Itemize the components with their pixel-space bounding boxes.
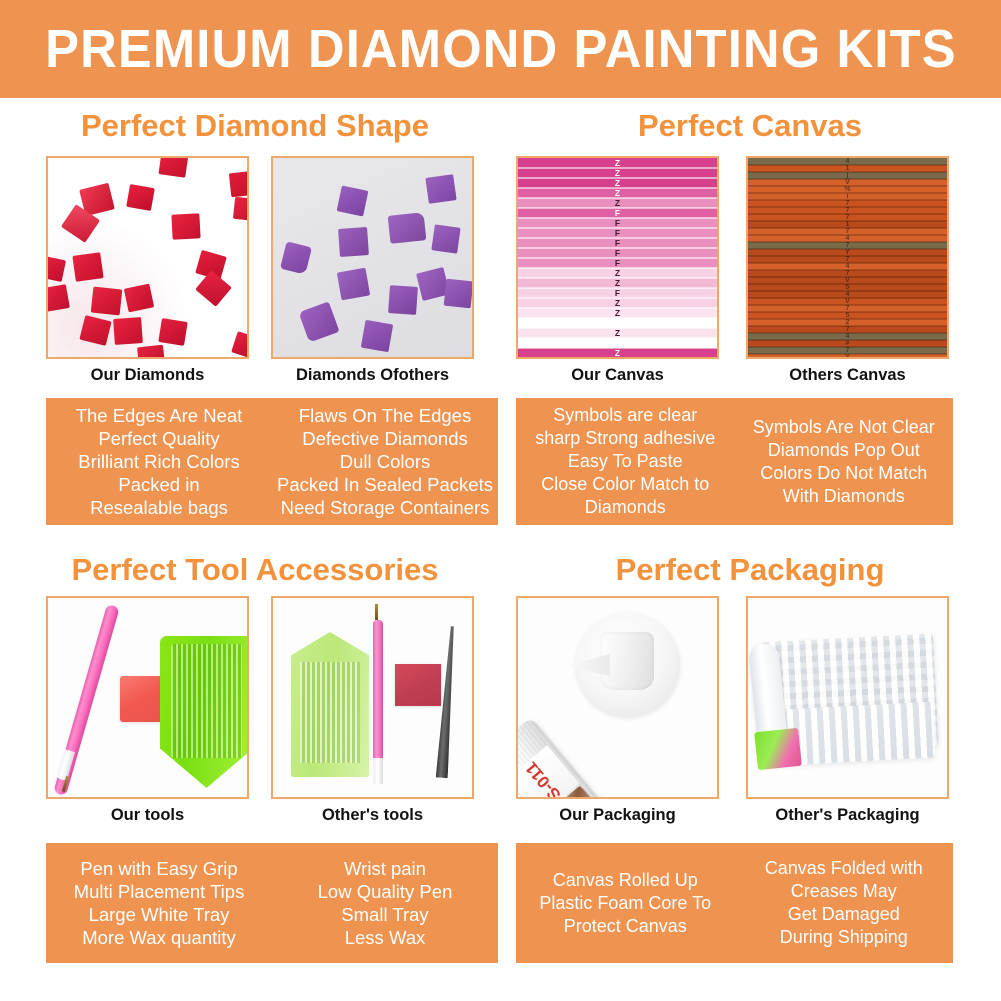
feature-col-ours-packaging: Canvas Rolled Up Plastic Foam Core To Pr… [516,843,735,963]
others-packaging-art [748,598,947,797]
wax-square [120,676,167,722]
caption-our-diamonds: Our Diamonds [46,366,249,385]
feature-line: Low Quality Pen [318,880,453,903]
small-green-tray [291,632,369,777]
tube-cap [576,612,680,716]
feature-line: Close Color Match to [541,473,709,496]
feature-line: Diamonds Pop Out [768,439,920,462]
feature-line: Small Tray [341,903,428,926]
photo-our-canvas: ZZZZZFFFFFFZZFZZZZZZZZZFFFFFFFZZZZZZEZFF… [516,156,719,359]
infographic-page: PREMIUM DIAMOND PAINTING KITS Perfect Di… [0,0,1001,1001]
section-title-canvas: Perfect Canvas [520,108,980,144]
caption-others-packaging: Other's Packaging [746,806,949,825]
feature-line: Colors Do Not Match [760,462,927,485]
tube-label-text: S-011 [521,758,565,799]
pen-cap [373,758,383,784]
feature-line: With Diamonds [783,485,905,508]
wax-square [395,664,441,706]
feature-line: Canvas Rolled Up [553,869,698,892]
feature-line: The Edges Are Neat [76,404,243,427]
pen-needle [375,604,378,620]
feature-col-others-tools: Wrist pain Low Quality Pen Small Tray Le… [272,843,498,963]
feature-col-others-packaging: Canvas Folded with Creases May Get Damag… [735,843,954,963]
feature-line: More Wax quantity [82,926,236,949]
feature-box-diamond-shape: The Edges Are Neat Perfect Quality Brill… [46,398,498,525]
feature-line: Perfect Quality [98,427,219,450]
tube-cap-spout [566,654,610,676]
feature-line: sharp Strong adhesive [535,427,715,450]
feature-line: Flaws On The Edges [299,404,471,427]
photo-others-packaging [746,596,949,799]
caption-our-tools: Our tools [46,806,249,825]
red-diamonds-art [48,158,247,357]
feature-line: Wrist pain [344,857,426,880]
feature-line: Get Damaged [788,903,900,926]
feature-line: Protect Canvas [564,915,687,938]
photo-our-diamonds [46,156,249,359]
feature-col-ours-diamond-shape: The Edges Are Neat Perfect Quality Brill… [46,398,272,525]
section-title-tool-accessories: Perfect Tool Accessories [25,552,485,588]
photo-others-canvas: 41jV%i7771747Y747V54V75274#7YY7Y#j%%j72V… [746,156,949,359]
feature-box-canvas: Symbols are clear sharp Strong adhesive … [516,398,953,525]
feature-box-tools: Pen with Easy Grip Multi Placement Tips … [46,843,498,963]
pink-symbol-grid-art: ZZZZZFFFFFFZZFZZZZZZZZZFFFFFFFZZZZZZEZFF… [518,158,717,357]
others-tools-art [273,598,472,797]
feature-line: Easy To Paste [568,450,683,473]
caption-diamonds-ofothers: Diamonds Ofothers [271,366,474,385]
caption-our-packaging: Our Packaging [516,806,719,825]
photo-our-tools [46,596,249,799]
feature-line: Need Storage Containers [281,496,490,519]
our-packaging-art: S-011 [518,598,717,797]
tube-label: S-011 [516,745,579,799]
tray-grooves [171,644,242,758]
caption-others-tools: Other's tools [271,806,474,825]
caption-our-canvas: Our Canvas [516,366,719,385]
purple-diamonds-art [273,158,472,357]
feature-line: Resealable bags [90,496,228,519]
tray-grooves [300,662,360,763]
section-title-diamond-shape: Perfect Diamond Shape [25,108,485,144]
feature-line: Defective Diamonds [302,427,468,450]
feature-col-others-diamond-shape: Flaws On The Edges Defective Diamonds Du… [272,398,498,525]
packaging-tube: S-011 [516,717,719,799]
our-tools-art [48,598,247,797]
feature-line: Symbols are clear [553,404,697,427]
feature-col-ours-canvas: Symbols are clear sharp Strong adhesive … [516,398,735,525]
muddy-color-grid-art: 41jV%i7771747Y747V54V75274#7YY7Y#j%%j72V… [748,158,947,357]
feature-box-packaging: Canvas Rolled Up Plastic Foam Core To Pr… [516,843,953,963]
section-title-packaging: Perfect Packaging [520,552,980,588]
feature-col-others-canvas: Symbols Are Not Clear Diamonds Pop Out C… [735,398,954,525]
feature-line: Pen with Easy Grip [80,857,237,880]
feature-line: Canvas Folded with [765,857,923,880]
feature-line: Creases May [791,880,897,903]
photo-diamonds-ofothers [271,156,474,359]
feature-line: Brilliant Rich Colors [78,450,239,473]
green-tray [160,636,249,788]
feature-line: Large White Tray [89,903,230,926]
photo-our-packaging: S-011 [516,596,719,799]
mailer-contents [754,728,802,770]
feature-col-ours-tools: Pen with Easy Grip Multi Placement Tips … [46,843,272,963]
feature-line: Diamonds [585,496,666,519]
feature-line: Plastic Foam Core To [539,892,711,915]
header-banner: PREMIUM DIAMOND PAINTING KITS [0,0,1001,98]
feature-line: Dull Colors [340,450,430,473]
photo-others-tools [271,596,474,799]
page-title: PREMIUM DIAMOND PAINTING KITS [45,18,957,80]
feature-line: Symbols Are Not Clear [753,416,935,439]
feature-line: Packed In Sealed Packets [277,473,493,496]
feature-line: During Shipping [780,926,908,949]
feature-line: Less Wax [345,926,426,949]
feature-line: Packed in [118,473,199,496]
feature-line: Multi Placement Tips [74,880,245,903]
caption-others-canvas: Others Canvas [746,366,949,385]
